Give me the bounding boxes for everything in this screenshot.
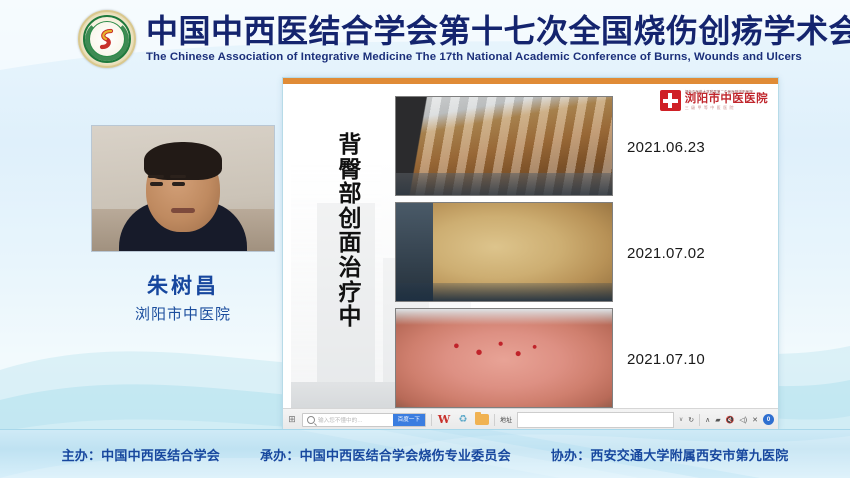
banner-host: 承办：中国中西医结合学会烧伤专业委员会 <box>260 445 511 464</box>
caption-char: 面 <box>335 230 365 255</box>
network-icon[interactable]: ▰ <box>715 416 720 424</box>
photo-date: 2021.07.02 <box>627 245 705 262</box>
search-input[interactable]: 输入您不懂中的… 百度一下 <box>302 413 426 427</box>
address-label: 地址 <box>500 415 512 424</box>
speaker-webcam-feed[interactable] <box>91 125 275 252</box>
title-block: 中国中西医结合学会第十七次全国烧伤创疡学术会议 The Chinese Asso… <box>146 15 850 63</box>
address-input[interactable] <box>517 412 674 428</box>
divider <box>699 414 700 426</box>
conference-header: 中国中西医结合学会第十七次全国烧伤创疡学术会议 The Chinese Asso… <box>0 0 850 78</box>
cami-emblem-logo <box>78 10 136 68</box>
slide-vertical-caption: 背 臀 部 创 面 治 疗 中 <box>335 132 365 329</box>
caption-char: 中 <box>335 304 365 329</box>
refresh-icon[interactable]: ↻ <box>688 416 694 424</box>
caption-char: 背 <box>335 132 365 157</box>
speaker-name: 朱树昌 <box>147 270 219 300</box>
sponsor-banner: 主办：中国中西医结合学会 承办：中国中西医结合学会烧伤专业委员会 协办：西安交通… <box>0 429 850 478</box>
s-symbol-icon <box>97 28 117 50</box>
clinical-photo-row <box>395 308 613 408</box>
clinical-photo <box>395 202 613 302</box>
recycle-bin-icon[interactable]: ♻ <box>456 413 470 427</box>
photo-date: 2021.06.23 <box>627 139 705 156</box>
search-placeholder: 输入您不懂中的… <box>318 416 390 424</box>
shared-screen-window[interactable]: 湖南中医药大学附属第二中医医院浏阳医院 浏阳市中医医院 三级甲等中医医院 背 臀… <box>283 78 778 430</box>
hospital-logo: 湖南中医药大学附属第二中医医院浏阳医院 浏阳市中医医院 三级甲等中医医院 <box>660 90 768 111</box>
medical-cross-icon <box>660 90 681 111</box>
divider <box>494 414 495 426</box>
caption-char: 疗 <box>335 280 365 305</box>
action-center-icon[interactable]: ✕ <box>752 416 758 424</box>
clinical-photo <box>395 308 613 408</box>
caption-char: 部 <box>335 181 365 206</box>
slide-content: 湖南中医药大学附属第二中医医院浏阳医院 浏阳市中医医院 三级甲等中医医院 背 臀… <box>283 84 778 408</box>
page-subtitle: The Chinese Association of Integrative M… <box>146 51 850 63</box>
volume-muted-icon[interactable]: 🔇 <box>726 416 735 424</box>
banner-organizer: 主办：中国中西医结合学会 <box>62 445 220 464</box>
file-explorer-icon[interactable] <box>475 414 489 425</box>
search-icon <box>307 416 315 424</box>
page-title: 中国中西医结合学会第十七次全国烧伤创疡学术会议 <box>146 15 850 48</box>
speaker-panel: 朱树昌 浏阳市中医院 <box>92 125 274 324</box>
wps-office-icon[interactable]: W <box>437 413 451 427</box>
caption-char: 治 <box>335 255 365 280</box>
windows-taskbar[interactable]: ⊞ 输入您不懂中的… 百度一下 W ♻ 地址 ∨ ↻ ∧ ▰ 🔇 ◁) ✕ <box>283 408 778 430</box>
caption-char: 创 <box>335 206 365 231</box>
show-hidden-icons-chevron[interactable]: ∧ <box>705 416 710 424</box>
windows-start-icon[interactable]: ⊞ <box>287 414 297 426</box>
clinical-photo-row <box>395 202 613 302</box>
caption-char: 臀 <box>335 157 365 182</box>
divider <box>431 414 432 426</box>
photo-date: 2021.07.10 <box>627 351 705 368</box>
webinar-screen: 中国中西医结合学会第十七次全国烧伤创疡学术会议 The Chinese Asso… <box>0 0 850 478</box>
system-tray: ∨ ↻ ∧ ▰ 🔇 ◁) ✕ 0 <box>679 414 774 426</box>
speaker-icon[interactable]: ◁) <box>739 416 747 424</box>
banner-coorganizer: 协办：西安交通大学附属西安市第九医院 <box>551 445 789 464</box>
clinical-photo <box>395 96 613 196</box>
chevron-down-icon[interactable]: ∨ <box>679 416 683 423</box>
search-submit-button[interactable]: 百度一下 <box>393 413 425 427</box>
user-account-icon[interactable]: 0 <box>763 414 774 425</box>
hospital-grade-line: 三级甲等中医医院 <box>685 106 768 110</box>
speaker-organization: 浏阳市中医院 <box>135 303 231 324</box>
clinical-photo-row <box>395 96 613 196</box>
